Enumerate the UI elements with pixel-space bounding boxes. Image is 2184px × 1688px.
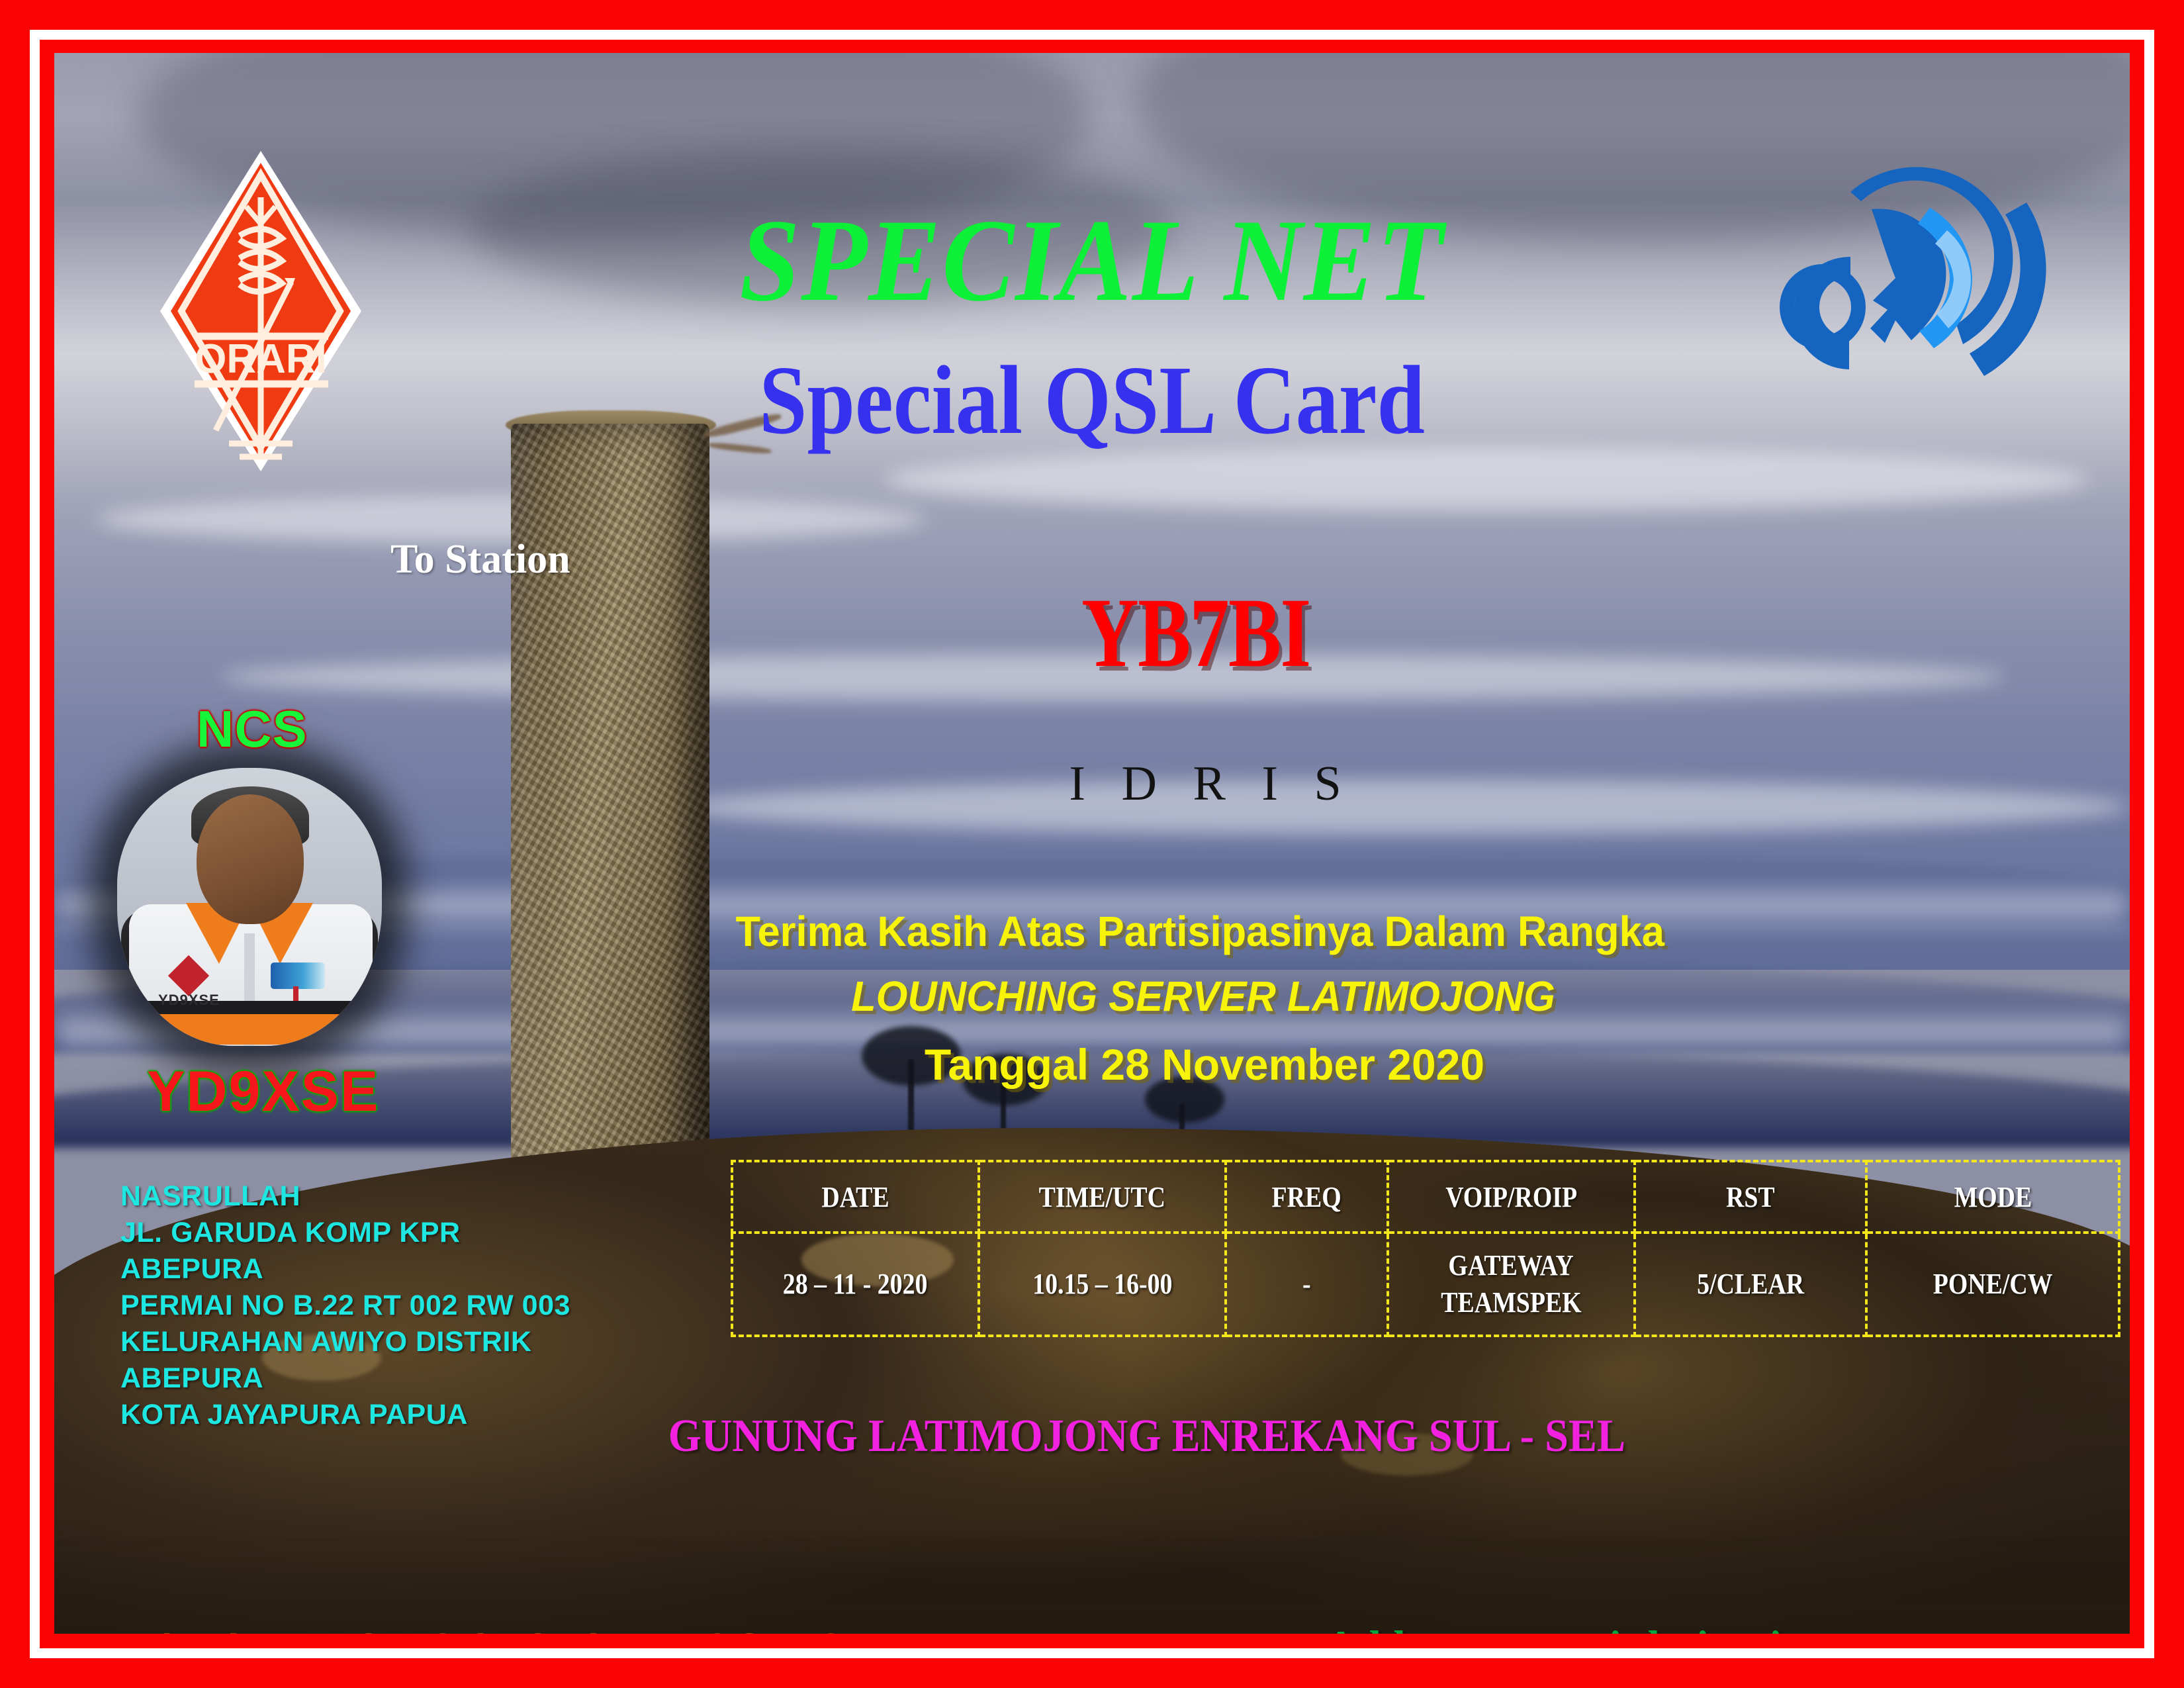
cell-time: 10.15 – 16-00 — [979, 1233, 1226, 1336]
cell-mode: PONE/CW — [1866, 1233, 2119, 1336]
cell-text: - — [1302, 1266, 1311, 1303]
header-text: RST — [1726, 1180, 1775, 1214]
qsl-card: ORARI YD — [0, 0, 2184, 1688]
table-header-row: DATE TIME/UTC FREQ VOIP/ROIP RST MODE — [732, 1161, 2119, 1233]
table-header-mode: MODE — [1866, 1161, 2119, 1233]
web-address: Address : amatir.latimojong.com — [1325, 1620, 1938, 1634]
recipient-address-block: NASRULLAH JL. GARUDA KOMP KPR ABEPURA PE… — [120, 1178, 570, 1433]
cell-freq: - — [1226, 1233, 1388, 1336]
thanks-line-2: LOUNCHING SERVER LATIMOJONG — [207, 972, 2130, 1021]
qso-log-table: DATE TIME/UTC FREQ VOIP/ROIP RST MODE 28… — [731, 1160, 2120, 1337]
cell-text: GATEWAY — [1449, 1247, 1574, 1284]
cell-text: 28 – 11 - 2020 — [783, 1266, 928, 1303]
header-text: MODE — [1954, 1180, 2032, 1214]
table-header-rst: RST — [1635, 1161, 1866, 1233]
motto-text: "AMATIR RADIO ADALAH PROGRESIVE" — [130, 1623, 934, 1634]
page-subtitle: Special QSL Card — [179, 344, 2005, 457]
table-header-voip: VOIP/ROIP — [1388, 1161, 1635, 1233]
cell-voip: GATEWAY TEAMSPEK — [1388, 1233, 1635, 1336]
cell-text: 5/CLEAR — [1697, 1266, 1804, 1303]
thanks-line-1: Terima Kasih Atas Partisipasinya Dalam R… — [204, 907, 2130, 956]
operator-name: I D R I S — [173, 756, 2130, 812]
thanks-line-3: Tanggal 28 November 2020 — [167, 1039, 2130, 1090]
header-text: VOIP/ROIP — [1445, 1180, 1577, 1214]
table-header-time: TIME/UTC — [979, 1161, 1226, 1233]
address-line: PERMAI NO B.22 RT 002 RW 003 — [120, 1288, 570, 1324]
address-line: KELURAHAN AWIYO DISTRIK — [120, 1324, 570, 1360]
station-callsign: YB7BI — [365, 576, 2026, 690]
location-caption: GUNUNG LATIMOJONG ENREKANG SUL - SEL — [192, 1410, 2101, 1463]
cloud-streak — [884, 448, 2088, 512]
cell-rst: 5/CLEAR — [1635, 1233, 1866, 1336]
address-line: NASRULLAH — [120, 1178, 570, 1215]
ncs-label: NCS — [197, 699, 308, 759]
cell-text: PONE/CW — [1933, 1266, 2053, 1303]
cell-date: 28 – 11 - 2020 — [732, 1233, 979, 1336]
address-line: ABEPURA — [120, 1360, 570, 1397]
operator-face — [197, 794, 304, 924]
header-text: DATE — [821, 1180, 889, 1214]
cell-text: TEAMSPEK — [1441, 1284, 1581, 1321]
cell-text: 10.15 – 16-00 — [1032, 1266, 1172, 1303]
table-header-freq: FREQ — [1226, 1161, 1388, 1233]
header-text: TIME/UTC — [1039, 1180, 1165, 1214]
address-line: ABEPURA — [120, 1251, 570, 1288]
address-line: JL. GARUDA KOMP KPR — [120, 1215, 570, 1251]
table-header-date: DATE — [732, 1161, 979, 1233]
table-row: 28 – 11 - 2020 10.15 – 16-00 - GATEWAY T… — [732, 1233, 2119, 1336]
header-text: FREQ — [1272, 1180, 1342, 1214]
page-title: SPECIAL NET — [137, 192, 2046, 328]
background-photograph: ORARI YD — [54, 53, 2130, 1634]
